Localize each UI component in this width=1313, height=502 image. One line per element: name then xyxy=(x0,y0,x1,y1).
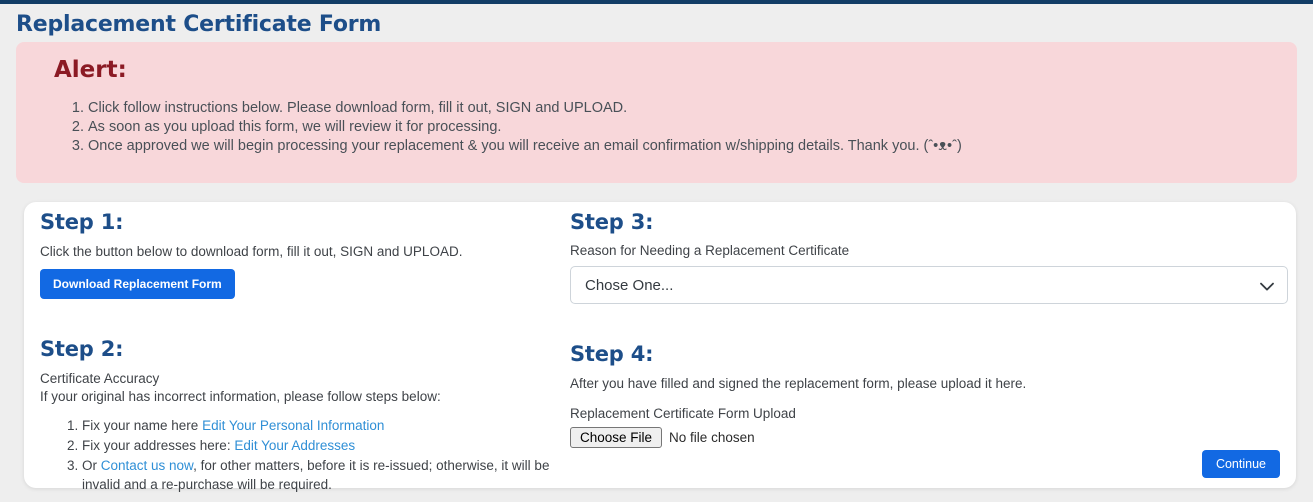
step2-instruction: If your original has incorrect informati… xyxy=(40,388,560,406)
list-item-prefix: Or xyxy=(82,458,101,473)
choose-file-button[interactable]: Choose File xyxy=(570,427,662,448)
step2-subtitle: Certificate Accuracy xyxy=(40,370,560,388)
form-card: Step 1: Click the button below to downlo… xyxy=(24,202,1296,488)
right-column: Step 3: Reason for Needing a Replacement… xyxy=(570,210,1280,448)
alert-instruction-list: Click follow instructions below. Please … xyxy=(36,99,1277,156)
edit-personal-information-link[interactable]: Edit Your Personal Information xyxy=(202,418,384,433)
list-item-prefix: Fix your addresses here: xyxy=(82,438,234,453)
list-item: Click follow instructions below. Please … xyxy=(88,99,1277,118)
continue-button[interactable]: Continue xyxy=(1202,450,1280,478)
list-item: Or Contact us now, for other matters, be… xyxy=(82,456,560,494)
list-item: Fix your name here Edit Your Personal In… xyxy=(82,416,560,435)
download-replacement-form-button[interactable]: Download Replacement Form xyxy=(40,269,235,299)
reason-select-label: Reason for Needing a Replacement Certifi… xyxy=(570,243,1280,258)
step1-description: Click the button below to download form,… xyxy=(40,243,560,261)
left-column: Step 1: Click the button below to downlo… xyxy=(40,210,560,495)
reason-select[interactable]: Chose One... xyxy=(570,266,1288,304)
step3-heading: Step 3: xyxy=(570,210,1280,234)
list-item: Fix your addresses here: Edit Your Addre… xyxy=(82,436,560,455)
list-item-prefix: Fix your name here xyxy=(82,418,202,433)
list-item: As soon as you upload this form, we will… xyxy=(88,118,1277,137)
alert-title: Alert: xyxy=(54,58,1277,83)
top-accent-bar xyxy=(0,0,1313,4)
list-item: Once approved we will begin processing y… xyxy=(88,137,1277,156)
reason-select-wrapper: Chose One... xyxy=(570,266,1288,304)
contact-us-now-link[interactable]: Contact us now xyxy=(101,458,193,473)
step1-heading: Step 1: xyxy=(40,210,560,234)
step2-list: Fix your name here Edit Your Personal In… xyxy=(40,416,560,494)
upload-field-label: Replacement Certificate Form Upload xyxy=(570,406,1280,421)
step4-description: After you have filled and signed the rep… xyxy=(570,375,1280,393)
step2-heading: Step 2: xyxy=(40,337,560,361)
alert-banner: Alert: Click follow instructions below. … xyxy=(16,42,1297,183)
edit-your-addresses-link[interactable]: Edit Your Addresses xyxy=(234,438,355,453)
step4-heading: Step 4: xyxy=(570,342,1280,366)
page-title: Replacement Certificate Form xyxy=(16,12,381,37)
file-upload-row: Choose File No file chosen xyxy=(570,427,1280,448)
file-status-text: No file chosen xyxy=(669,430,755,445)
